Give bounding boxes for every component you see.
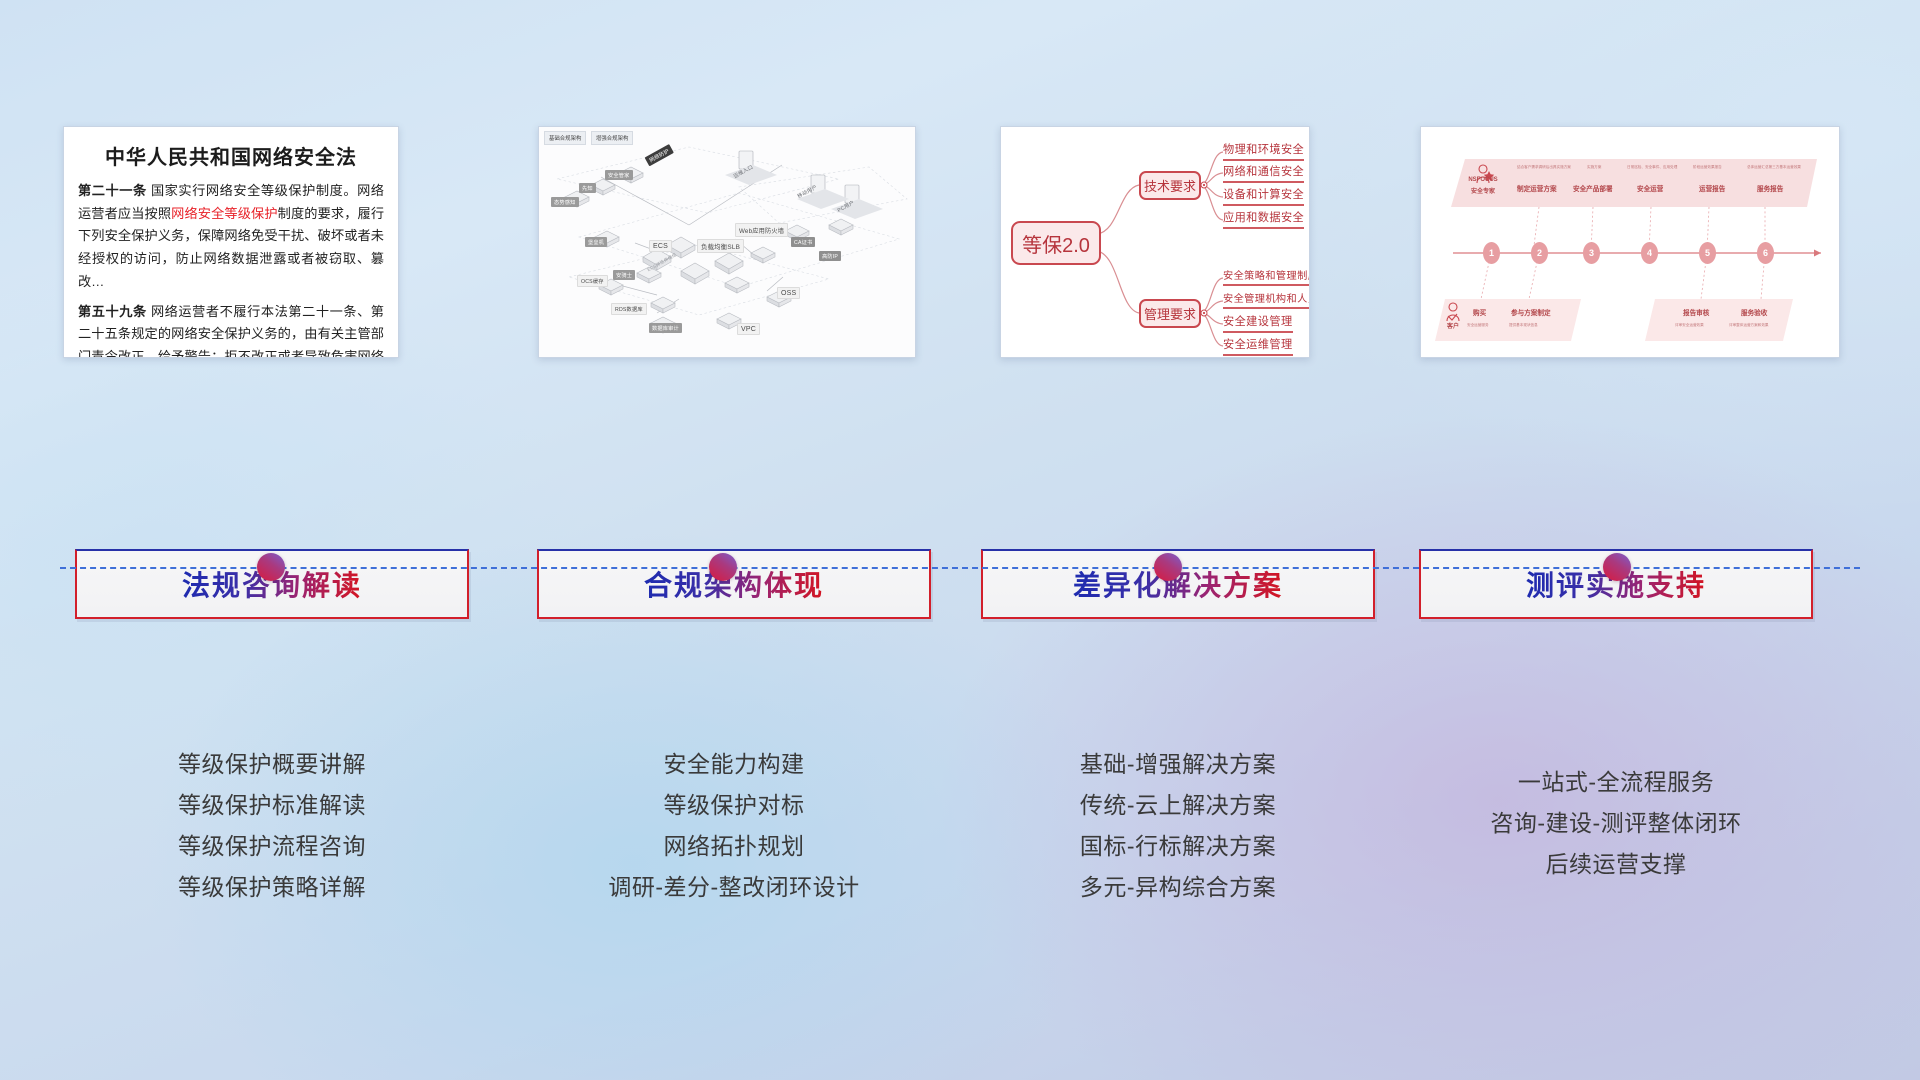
timeline-top-title-4: 服务报告 <box>1757 183 1783 193</box>
timeline-marker-5[interactable]: 5 <box>1699 242 1716 264</box>
mindmap-root-node[interactable]: 等保2.0 <box>1011 221 1101 265</box>
timeline-marker-3[interactable]: 3 <box>1583 242 1600 264</box>
law-article-21: 第二十一条 国家实行网络安全等级保护制度。网络运营者应当按照网络安全等级保护制度… <box>78 180 384 294</box>
timeline-node-dot-1[interactable] <box>709 553 737 581</box>
arch-node-prophet: 先知 <box>579 183 596 193</box>
timeline-bottom-title-1: 参与方案制定 <box>1511 307 1551 317</box>
timeline-marker-2[interactable]: 2 <box>1531 242 1548 264</box>
section-item-3-1: 咨询-建设-测评整体闭环 <box>1419 803 1813 844</box>
section-item-2-2: 国标-行标解决方案 <box>981 826 1375 867</box>
section-item-1-0: 安全能力构建 <box>537 744 931 785</box>
arch-tab-0[interactable]: 基础合规架构 <box>544 131 586 145</box>
timeline-top-note-2: 日常巡检、安全事件、应用处理 <box>1627 165 1677 170</box>
arch-node-waf: Web应用防火墙 <box>735 223 788 237</box>
mindmap-leaf-tech-0: 物理和环境安全 <box>1223 141 1304 161</box>
arch-node-situational-awareness: 态势感知 <box>551 197 579 207</box>
timeline-marker-1[interactable]: 1 <box>1483 242 1500 264</box>
timeline-bottom-title-0: 购买 <box>1473 307 1486 317</box>
architecture-diagram: 基础合规架构 增强合规架构 态势感知 先知 安全管家 网络防护 运维入口 堡垒机… <box>539 127 915 357</box>
timeline-top-title-1: 安全产品部署 <box>1573 183 1613 193</box>
law-a21-seg-1-highlight: 网络安全等级保护 <box>171 206 277 221</box>
mindmap-leaf-mgmt-3: 安全运维管理 <box>1223 336 1293 356</box>
law-article-21-number: 第二十一条 <box>78 183 147 198</box>
section-item-1-3: 调研-差分-整改闭环设计 <box>537 867 931 908</box>
timeline-expert-role-title: NSFOCUS <box>1457 177 1509 183</box>
arch-node-vpc: VPC <box>737 323 760 335</box>
timeline-top-title-3: 运营报告 <box>1699 183 1725 193</box>
preview-card-architecture[interactable]: 基础合规架构 增强合规架构 态势感知 先知 安全管家 网络防护 运维入口 堡垒机… <box>538 126 916 358</box>
timeline-customer-role-title: 客户 <box>1439 321 1467 330</box>
section-item-0-2: 等级保护流程咨询 <box>75 826 469 867</box>
mindmap-diagram: 等保2.0 技术要求 管理要求 物理和环境安全 网络和通信安全 设备和计算安全 … <box>1001 127 1309 357</box>
timeline-top-note-1: 实施方案 <box>1587 165 1601 170</box>
timeline-node-dot-3[interactable] <box>1603 553 1631 581</box>
timeline-bottom-title-3: 服务验收 <box>1741 307 1767 317</box>
arch-node-rds: RDS数据库 <box>611 303 647 315</box>
arch-node-ca-cert: CA证书 <box>791 237 815 247</box>
law-article-59: 第五十九条 网络运营者不履行本法第二十一条、第二十五条规定的网络安全保护义务的，… <box>78 301 384 358</box>
section-items-3: 一站式-全流程服务 咨询-建设-测评整体闭环 后续运营支撑 <box>1419 762 1813 885</box>
law-article-59-number: 第五十九条 <box>78 304 147 319</box>
law-body: 第二十一条 国家实行网络安全等级保护制度。网络运营者应当按照网络安全等级保护制度… <box>64 180 398 358</box>
arch-node-aegis: 安骑士 <box>613 270 635 280</box>
mindmap-branch-technical[interactable]: 技术要求 <box>1139 171 1201 200</box>
preview-card-mindmap[interactable]: 等保2.0 技术要求 管理要求 物理和环境安全 网络和通信安全 设备和计算安全 … <box>1000 126 1310 358</box>
mindmap-leaf-mgmt-1: 安全管理机构和人员 <box>1223 290 1310 309</box>
arch-node-security-butler: 安全管家 <box>605 170 633 180</box>
arch-node-ocs-cache: OCS缓存 <box>577 275 608 287</box>
arch-node-slb: 负载均衡SLB <box>697 239 744 253</box>
service-timeline-diagram: NSFOCUS 安全专家 客户 结合客户需求调研后出具实施方案 制定运营方案 实… <box>1421 127 1839 357</box>
mindmap-leaf-tech-2: 设备和计算安全 <box>1223 186 1304 206</box>
timeline-bottom-note-3: 评审整体运营方案和效果 <box>1729 323 1769 328</box>
mindmap-leaf-tech-1: 网络和通信安全 <box>1223 163 1304 183</box>
mindmap-leaf-mgmt-2: 安全建设管理 <box>1223 313 1293 333</box>
timeline-marker-6[interactable]: 6 <box>1757 242 1774 264</box>
section-items-1: 安全能力构建 等级保护对标 网络拓扑规划 调研-差分-整改闭环设计 <box>537 744 931 908</box>
timeline-marker-4[interactable]: 4 <box>1641 242 1658 264</box>
timeline-top-note-0: 结合客户需求调研后出具实施方案 <box>1517 165 1571 170</box>
timeline-top-title-2: 安全运营 <box>1637 183 1663 193</box>
section-item-2-3: 多元-异构综合方案 <box>981 867 1375 908</box>
section-item-3-0: 一站式-全流程服务 <box>1419 762 1813 803</box>
section-item-1-2: 网络拓扑规划 <box>537 826 931 867</box>
arch-node-anti-ddos: 高防IP <box>819 251 841 261</box>
timeline-bottom-note-0: 安全运营服务 <box>1467 323 1489 328</box>
section-item-0-1: 等级保护标准解读 <box>75 785 469 826</box>
section-item-1-1: 等级保护对标 <box>537 785 931 826</box>
law-title: 中华人民共和国网络安全法 <box>64 141 398 170</box>
timeline-bottom-note-2: 评审安全运营效果 <box>1675 323 1704 328</box>
section-item-3-2: 后续运营支撑 <box>1419 844 1813 885</box>
mindmap-branch-management[interactable]: 管理要求 <box>1139 299 1201 328</box>
section-item-0-0: 等级保护概要讲解 <box>75 744 469 785</box>
preview-card-service-timeline[interactable]: NSFOCUS 安全专家 客户 结合客户需求调研后出具实施方案 制定运营方案 实… <box>1420 126 1840 358</box>
timeline-bottom-title-2: 报告审核 <box>1683 307 1709 317</box>
section-item-0-3: 等级保护策略详解 <box>75 867 469 908</box>
timeline-top-title-0: 制定运营方案 <box>1517 183 1557 193</box>
preview-card-law[interactable]: 中华人民共和国网络安全法 第二十一条 国家实行网络安全等级保护制度。网络运营者应… <box>63 126 399 358</box>
arch-node-bastion-host: 堡垒机 <box>585 237 607 247</box>
section-item-2-1: 传统-云上解决方案 <box>981 785 1375 826</box>
timeline-bottom-note-1: 提供基本现状信息 <box>1509 323 1538 328</box>
timeline-expert-role-subtitle: 安全专家 <box>1457 186 1509 195</box>
timeline-top-note-4: 总体运营汇总第三方基本运营效果 <box>1747 165 1801 170</box>
arch-node-oss: OSS <box>777 287 800 299</box>
section-items-0: 等级保护概要讲解 等级保护标准解读 等级保护流程咨询 等级保护策略详解 <box>75 744 469 908</box>
mindmap-leaf-mgmt-0: 安全策略和管理制度 <box>1223 267 1310 286</box>
section-item-2-0: 基础-增强解决方案 <box>981 744 1375 785</box>
slide-canvas: 中华人民共和国网络安全法 第二十一条 国家实行网络安全等级保护制度。网络运营者应… <box>0 0 1920 1080</box>
timeline-dashed-line <box>60 567 1860 569</box>
section-items-2: 基础-增强解决方案 传统-云上解决方案 国标-行标解决方案 多元-异构综合方案 <box>981 744 1375 908</box>
timeline-node-dot-2[interactable] <box>1154 553 1182 581</box>
arch-node-ecs: ECS <box>649 240 672 252</box>
timeline-node-dot-0[interactable] <box>257 553 285 581</box>
arch-tab-1[interactable]: 增强合规架构 <box>591 131 633 145</box>
timeline-top-note-3: 阶段运营效果报告 <box>1693 165 1722 170</box>
arch-node-db-audit: 数据库审计 <box>649 323 682 333</box>
mindmap-leaf-tech-3: 应用和数据安全 <box>1223 209 1304 229</box>
